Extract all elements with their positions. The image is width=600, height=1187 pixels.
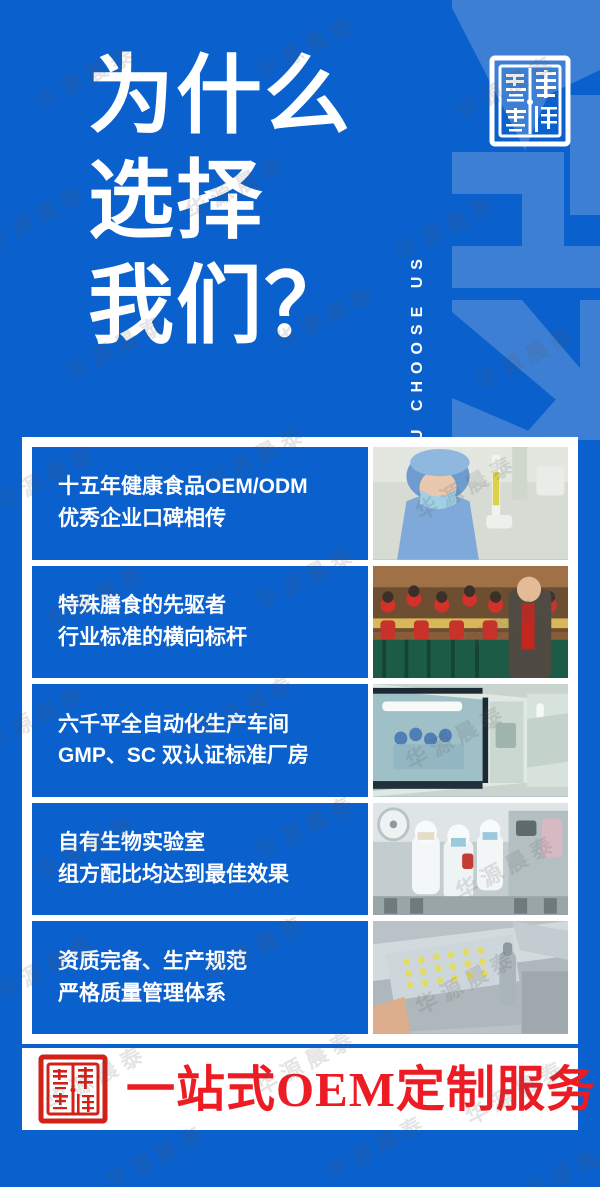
title-line-1: 为什么 bbox=[88, 44, 388, 149]
feature-card[interactable]: 自有生物实验室 组方配比均达到最佳效果 bbox=[32, 803, 568, 916]
feature-photo-capsule-packing-machine bbox=[373, 921, 568, 1034]
title-line-2: 选择 bbox=[88, 149, 388, 254]
banner-headline: 一站式OEM定制服务 bbox=[126, 1065, 596, 1114]
poster-root: 为什么 选择 我们？ DID YOU CHOOSE US bbox=[0, 0, 600, 1187]
feature-card[interactable]: 六千平全自动化生产车间 GMP、SC 双认证标准厂房 bbox=[32, 684, 568, 797]
feature-card-text: 资质完备、生产规范 严格质量管理体系 bbox=[32, 921, 368, 1034]
feature-line-2: 组方配比均达到最佳效果 bbox=[58, 859, 368, 891]
features-frame: 十五年健康食品OEM/ODM 优秀企业口碑相传 bbox=[22, 437, 578, 1044]
feature-line-2: 行业标准的横向标杆 bbox=[58, 622, 368, 654]
watermark: 华源晨泰 bbox=[519, 1126, 600, 1187]
vertical-english-tagline: DID YOU CHOOSE US bbox=[400, 14, 436, 404]
feature-line-1: 十五年健康食品OEM/ODM bbox=[58, 471, 368, 503]
bottom-service-banner: 一站式OEM定制服务 bbox=[22, 1048, 578, 1130]
feature-card-list: 十五年健康食品OEM/ODM 优秀企业口碑相传 bbox=[32, 447, 568, 1034]
feature-card-text: 六千平全自动化生产车间 GMP、SC 双认证标准厂房 bbox=[32, 684, 368, 797]
feature-line-1: 自有生物实验室 bbox=[58, 827, 368, 859]
feature-photo-conference-audience bbox=[373, 566, 568, 679]
feature-line-2: 优秀企业口碑相传 bbox=[58, 503, 368, 535]
company-seal-icon bbox=[487, 52, 573, 150]
feature-card-text: 自有生物实验室 组方配比均达到最佳效果 bbox=[32, 803, 368, 916]
feature-photo-lab-technician bbox=[373, 447, 568, 560]
feature-card[interactable]: 十五年健康食品OEM/ODM 优秀企业口碑相传 bbox=[32, 447, 568, 560]
hero-section: 为什么 选择 我们？ DID YOU CHOOSE US bbox=[0, 0, 600, 437]
feature-card-text: 特殊膳食的先驱者 行业标准的横向标杆 bbox=[32, 566, 368, 679]
feature-photo-cleanroom-corridor bbox=[373, 684, 568, 797]
feature-card[interactable]: 资质完备、生产规范 严格质量管理体系 bbox=[32, 921, 568, 1034]
feature-line-1: 资质完备、生产规范 bbox=[58, 946, 368, 978]
feature-card-text: 十五年健康食品OEM/ODM 优秀企业口碑相传 bbox=[32, 447, 368, 560]
feature-line-1: 六千平全自动化生产车间 bbox=[58, 709, 368, 741]
feature-line-2: 严格质量管理体系 bbox=[58, 978, 368, 1010]
page-title: 为什么 选择 我们？ bbox=[88, 44, 388, 359]
feature-line-1: 特殊膳食的先驱者 bbox=[58, 590, 368, 622]
title-line-3: 我们？ bbox=[88, 254, 388, 359]
feature-card[interactable]: 特殊膳食的先驱者 行业标准的横向标杆 bbox=[32, 566, 568, 679]
feature-line-2: GMP、SC 双认证标准厂房 bbox=[58, 740, 368, 772]
feature-photo-production-line-workers bbox=[373, 803, 568, 916]
red-company-seal-icon bbox=[36, 1052, 110, 1126]
